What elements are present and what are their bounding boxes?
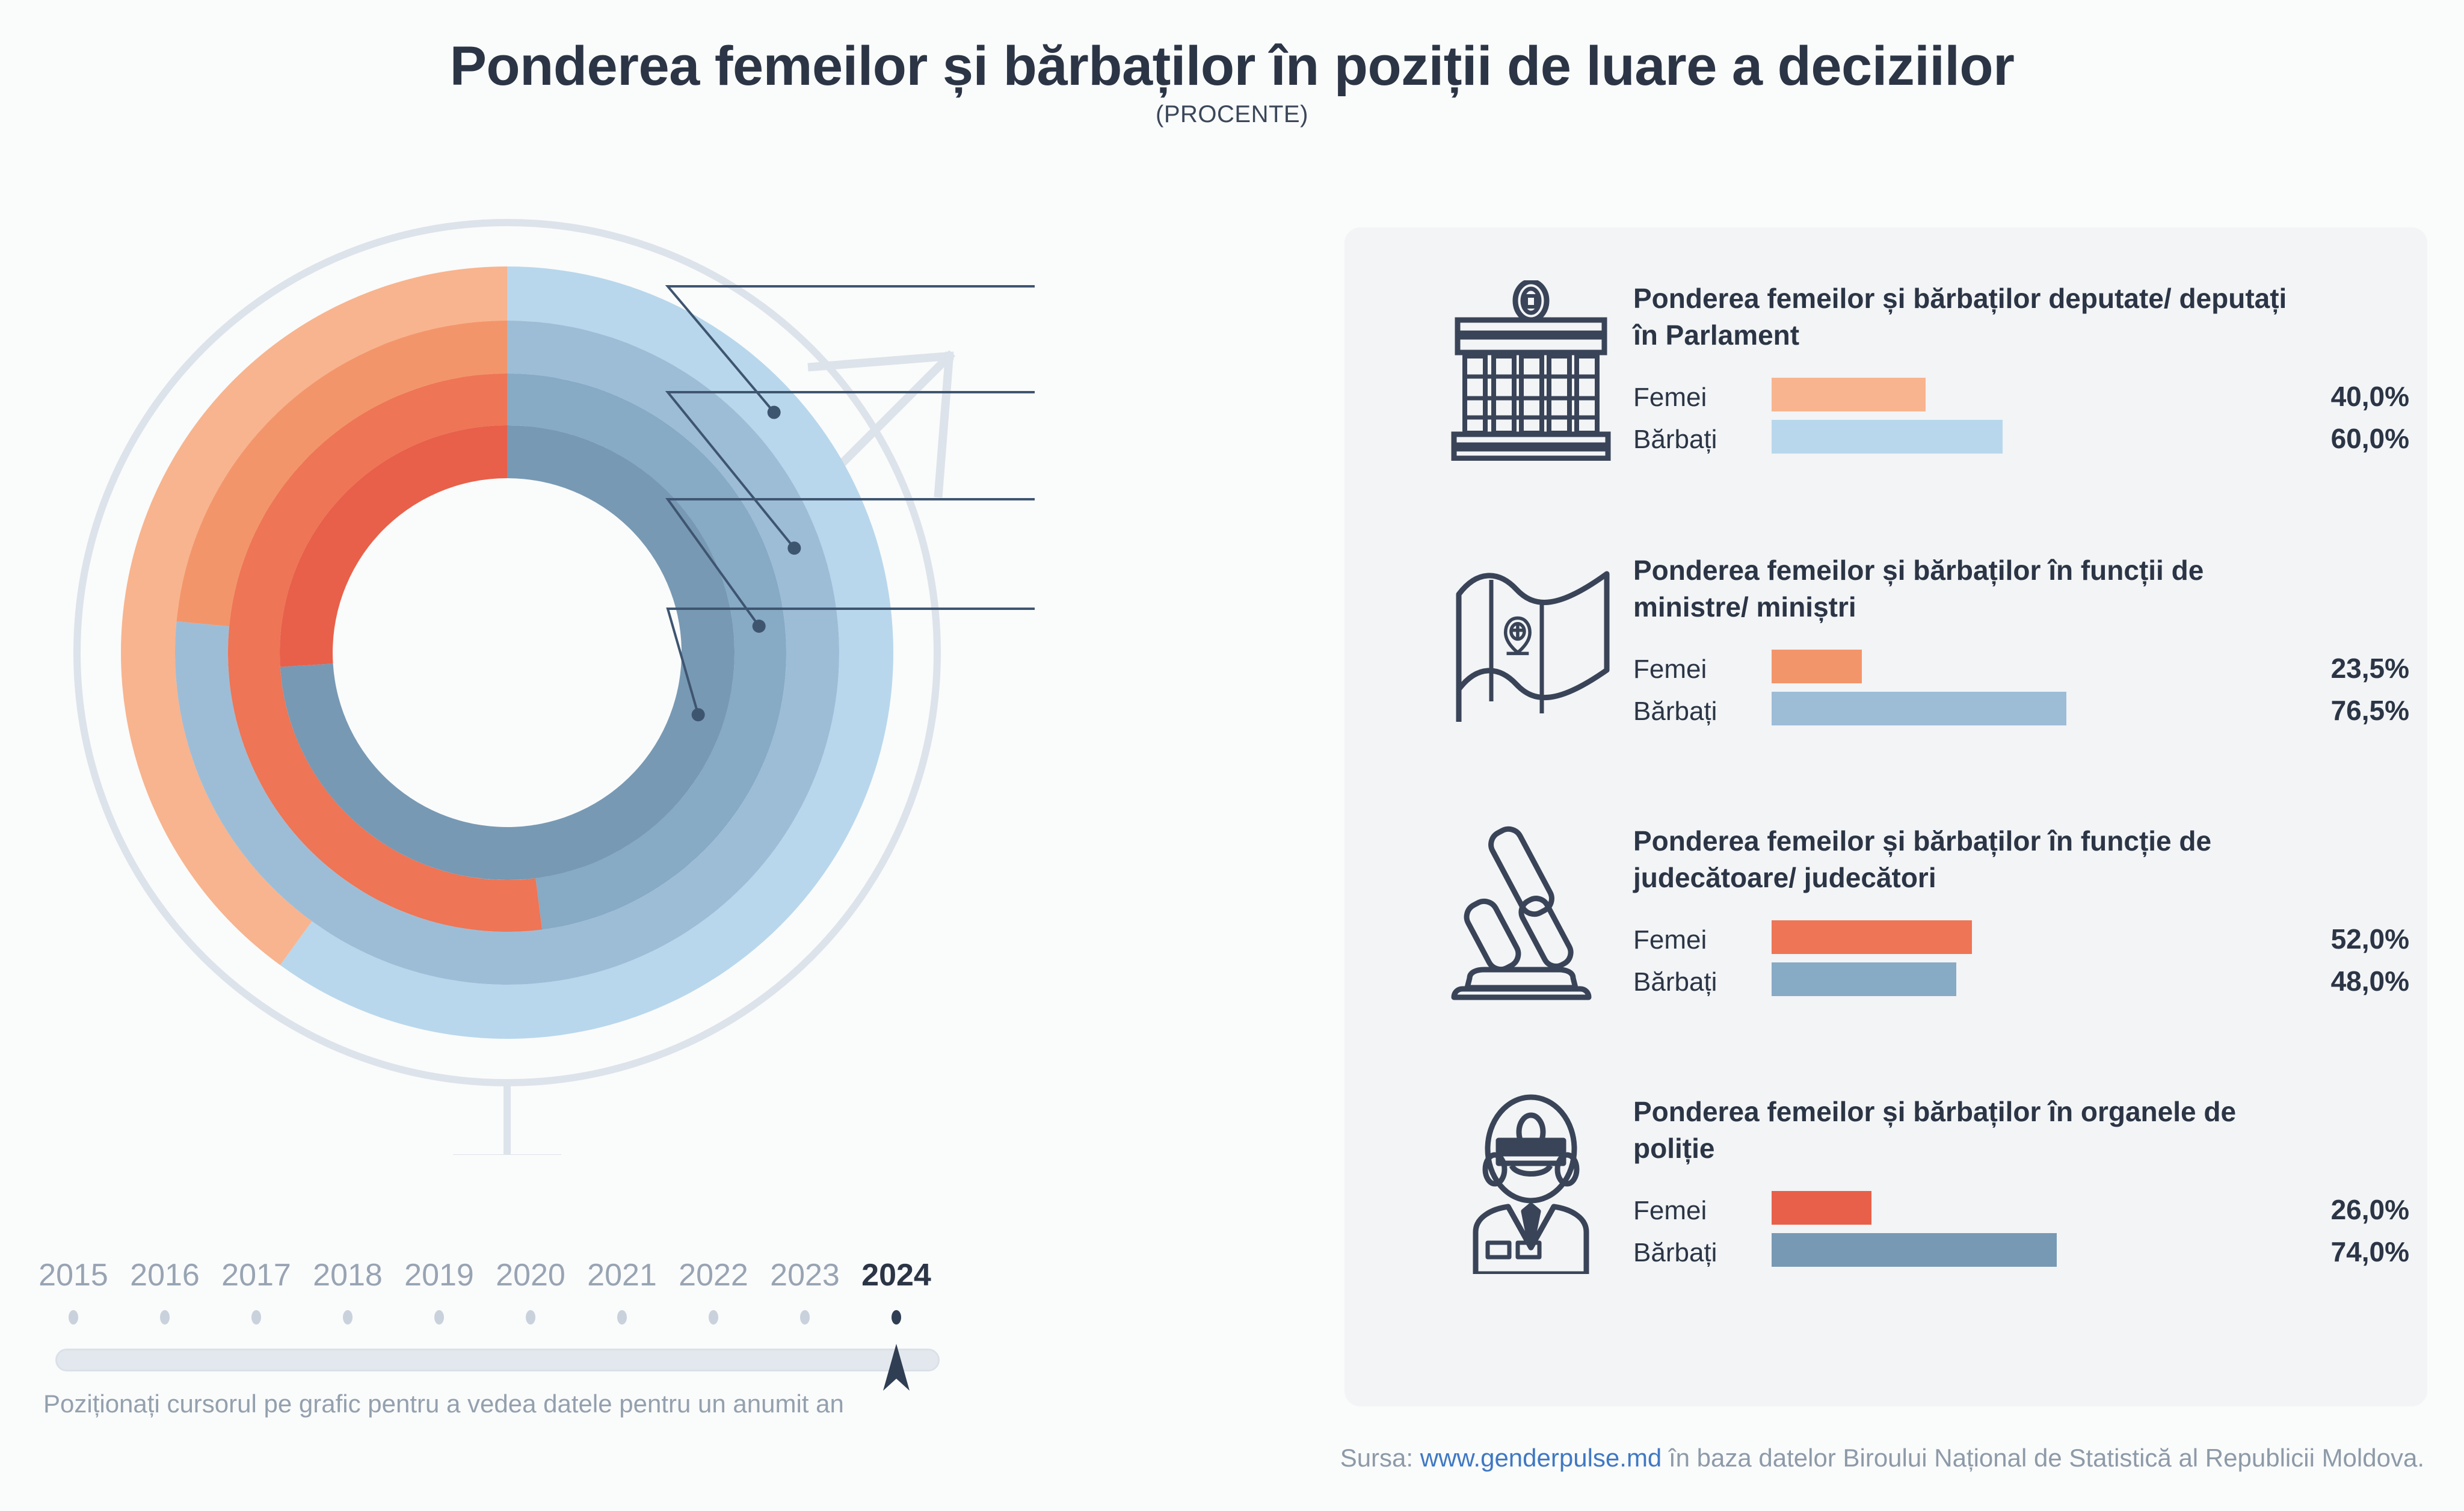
- year-label-2016[interactable]: 2016: [130, 1257, 200, 1293]
- bar-fill-men: [1772, 962, 1956, 996]
- indicator-bars: Femei 23,5% Bărbați 76,5%: [1633, 650, 2409, 734]
- bar-fill-women: [1772, 1191, 1871, 1225]
- page-title: Ponderea femeilor și bărbaților în poziț…: [0, 35, 2464, 98]
- bar-row-women: Femei 23,5%: [1633, 650, 2409, 692]
- donut-chart[interactable]: [36, 180, 1035, 1155]
- year-tick-2020[interactable]: [526, 1310, 535, 1325]
- indicator-title: Ponderea femeilor și bărbaților deputate…: [1633, 280, 2313, 354]
- donut-rings[interactable]: [121, 266, 893, 1039]
- timeline-slider-track[interactable]: [55, 1349, 940, 1371]
- bar-track-men: [1772, 962, 2157, 996]
- bar-track-men: [1772, 692, 2157, 725]
- source-prefix: Sursa:: [1340, 1444, 1420, 1472]
- year-label-2015[interactable]: 2015: [38, 1257, 108, 1293]
- year-label-2017[interactable]: 2017: [221, 1257, 291, 1293]
- indicator-title: Ponderea femeilor și bărbaților în funcț…: [1633, 823, 2313, 896]
- indicator-bars: Femei 52,0% Bărbați 48,0%: [1633, 920, 2409, 1005]
- bar-value-men: 48,0%: [2331, 965, 2409, 997]
- year-ticks-row[interactable]: [42, 1304, 1017, 1328]
- leader-dot: [753, 620, 766, 633]
- bar-row-men: Bărbați 48,0%: [1633, 962, 2409, 1005]
- year-labels-row[interactable]: 2015201620172018201920202021202220232024: [42, 1257, 1017, 1304]
- bar-track-men: [1772, 420, 2157, 454]
- bar-value-men: 60,0%: [2331, 422, 2409, 455]
- year-label-2020[interactable]: 2020: [496, 1257, 565, 1293]
- year-tick-2018[interactable]: [343, 1310, 353, 1325]
- bar-row-men: Bărbați 74,0%: [1633, 1233, 2409, 1275]
- bar-value-women: 52,0%: [2331, 923, 2409, 955]
- bar-row-men: Bărbați 60,0%: [1633, 420, 2409, 462]
- year-tick-2015[interactable]: [69, 1310, 78, 1325]
- year-tick-2016[interactable]: [160, 1310, 170, 1325]
- bar-fill-men: [1772, 692, 2066, 725]
- source-suffix: în baza datelor Biroului Național de Sta…: [1662, 1444, 2424, 1472]
- police-officer-icon: [1441, 1094, 1621, 1274]
- year-label-2024[interactable]: 2024: [861, 1257, 931, 1293]
- bar-label-men: Bărbați: [1633, 967, 1717, 997]
- source-line: Sursa: www.genderpulse.md în baza datelo…: [0, 1444, 2424, 1473]
- year-label-2018[interactable]: 2018: [313, 1257, 383, 1293]
- bar-label-women: Femei: [1633, 654, 1707, 685]
- year-label-2021[interactable]: 2021: [587, 1257, 657, 1293]
- source-link[interactable]: www.genderpulse.md: [1420, 1444, 1662, 1472]
- bar-track-women: [1772, 920, 2157, 954]
- year-tick-2021[interactable]: [617, 1310, 627, 1325]
- bar-label-women: Femei: [1633, 1196, 1707, 1226]
- bar-row-men: Bărbați 76,5%: [1633, 692, 2409, 734]
- bar-label-men: Bărbați: [1633, 425, 1717, 455]
- bar-row-women: Femei 52,0%: [1633, 920, 2409, 962]
- indicator-bars: Femei 40,0% Bărbați 60,0%: [1633, 378, 2409, 462]
- bar-label-women: Femei: [1633, 925, 1707, 955]
- year-timeline[interactable]: 2015201620172018201920202021202220232024: [42, 1257, 1017, 1389]
- bar-track-men: [1772, 1233, 2157, 1267]
- bar-track-women: [1772, 650, 2157, 683]
- slider-pointer-icon[interactable]: [879, 1341, 913, 1393]
- timeline-hint: Poziționați cursorul pe grafic pentru a …: [43, 1389, 844, 1418]
- bar-value-men: 76,5%: [2331, 694, 2409, 727]
- bar-fill-men: [1772, 420, 2003, 454]
- timeline-slider-handle[interactable]: [879, 1341, 913, 1393]
- year-tick-2022[interactable]: [709, 1310, 718, 1325]
- moldova-flag-icon: [1441, 552, 1621, 733]
- bar-row-women: Femei 26,0%: [1633, 1191, 2409, 1233]
- bar-value-women: 26,0%: [2331, 1193, 2409, 1226]
- indicator-title: Ponderea femeilor și bărbaților în organ…: [1633, 1094, 2313, 1167]
- year-label-2019[interactable]: 2019: [404, 1257, 474, 1293]
- bar-label-men: Bărbați: [1633, 1238, 1717, 1268]
- donut-chart-svg[interactable]: [36, 180, 1035, 1155]
- page-subtitle: (PROCENTE): [0, 101, 2464, 128]
- indicator-bars: Femei 26,0% Bărbați 74,0%: [1633, 1191, 2409, 1275]
- year-tick-2023[interactable]: [800, 1310, 810, 1325]
- bar-track-women: [1772, 378, 2157, 411]
- parliament-building-icon: [1441, 280, 1621, 461]
- indicators-panel: Ponderea femeilor și bărbaților deputate…: [1344, 227, 2427, 1406]
- year-label-2022[interactable]: 2022: [679, 1257, 748, 1293]
- bar-row-women: Femei 40,0%: [1633, 378, 2409, 420]
- year-tick-2024[interactable]: [892, 1310, 901, 1325]
- bar-label-men: Bărbați: [1633, 697, 1717, 727]
- year-tick-2019[interactable]: [434, 1310, 444, 1325]
- leader-dot: [768, 406, 781, 419]
- year-tick-2017[interactable]: [251, 1310, 261, 1325]
- indicator-title: Ponderea femeilor și bărbaților în funcț…: [1633, 552, 2313, 626]
- bar-fill-women: [1772, 920, 1972, 954]
- bar-fill-women: [1772, 378, 1926, 411]
- bar-track-women: [1772, 1191, 2157, 1225]
- bar-value-women: 40,0%: [2331, 380, 2409, 413]
- year-label-2023[interactable]: 2023: [770, 1257, 840, 1293]
- bar-fill-men: [1772, 1233, 2057, 1267]
- bar-value-women: 23,5%: [2331, 652, 2409, 685]
- leader-dot: [787, 541, 801, 555]
- bar-label-women: Femei: [1633, 383, 1707, 413]
- gavel-icon: [1441, 823, 1621, 1003]
- bar-value-men: 74,0%: [2331, 1236, 2409, 1268]
- leader-dot: [692, 708, 705, 721]
- bar-fill-women: [1772, 650, 1862, 683]
